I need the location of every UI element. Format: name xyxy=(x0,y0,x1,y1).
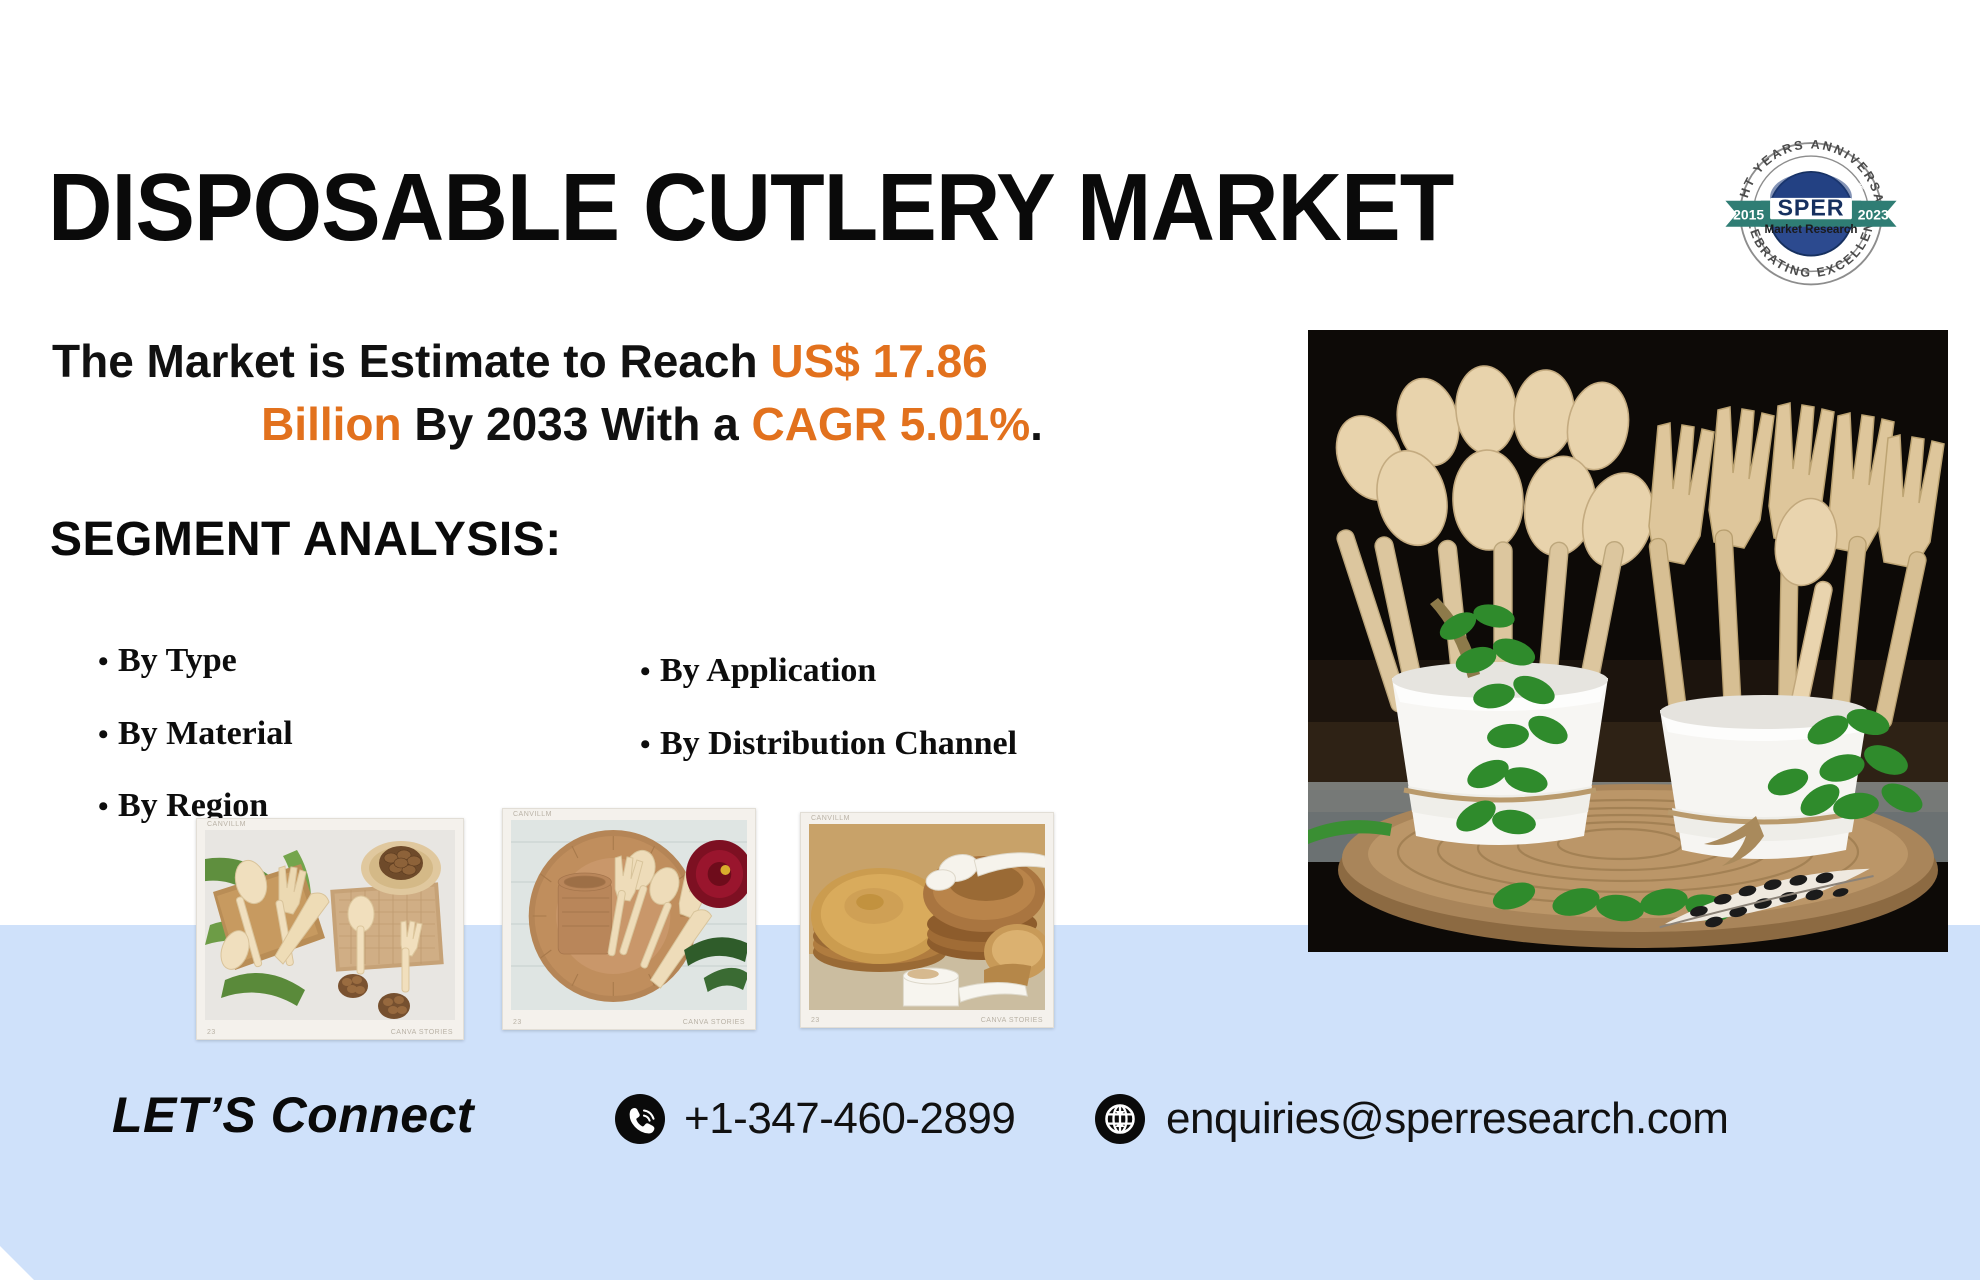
bullet-dot-icon: • xyxy=(98,647,118,677)
lets-connect-label: LET’S Connect xyxy=(112,1086,474,1144)
list-item-label: By Distribution Channel xyxy=(660,723,1017,766)
thumbnail-photo xyxy=(205,830,455,1020)
thumbnail-caption-bottom-right: CANVA STORIES xyxy=(683,1019,745,1026)
bullet-dot-icon: • xyxy=(640,730,660,760)
thumbnail-caption-top: CANVILLM xyxy=(513,811,552,818)
globe-icon[interactable] xyxy=(1094,1093,1146,1145)
sper-logo-badge: EIGHT YEARS ANNIVERSARY CELEBRATING EXCE… xyxy=(1718,128,1904,292)
thumbnail-caption-top: CANVILLM xyxy=(811,815,850,822)
hero-image xyxy=(1308,330,1948,952)
market-estimate-statement: The Market is Estimate to Reach US$ 17.8… xyxy=(52,330,1282,457)
poster-root: DISPOSABLE CUTLERY MARKET EIGHT YEARS AN… xyxy=(0,0,1980,1280)
subtitle-prefix: The Market is Estimate to Reach xyxy=(52,335,770,387)
sper-seal-icon: EIGHT YEARS ANNIVERSARY CELEBRATING EXCE… xyxy=(1718,128,1904,292)
thumbnail-caption-bottom-right: CANVA STORIES xyxy=(391,1029,453,1036)
svg-text:Market Research: Market Research xyxy=(1765,223,1858,236)
list-item-label: By Type xyxy=(118,640,237,683)
contact-email[interactable]: enquiries@sperresearch.com xyxy=(1094,1093,1728,1145)
thumbnail-caption-bottom-left: 23 xyxy=(513,1019,522,1026)
subtitle-value-cagr: CAGR 5.01% xyxy=(751,398,1030,450)
phone-number[interactable]: +1-347-460-2899 xyxy=(684,1094,1015,1144)
thumbnail-caption-top: CANVILLM xyxy=(207,821,246,828)
svg-text:2023: 2023 xyxy=(1858,206,1889,222)
subtitle-line-2: Billion By 2033 With a CAGR 5.01%. xyxy=(52,393,1282,456)
thumbnail-kraft-plate-cups: CANVILLM xyxy=(502,808,756,1030)
subtitle-value-billion: Billion xyxy=(261,398,402,450)
hero-photo xyxy=(1308,330,1948,952)
list-item: • By Material xyxy=(98,713,618,756)
thumbnail-wooden-cutlery-pinecones: CANVILLM xyxy=(196,818,464,1040)
list-item-label: By Material xyxy=(118,713,293,756)
page-title: DISPOSABLE CUTLERY MARKET xyxy=(48,160,1610,256)
subtitle-value-usd: US$ 17.86 xyxy=(770,335,987,387)
palm-leaf-bowls-illustration xyxy=(809,824,1045,1010)
list-item-label: By Application xyxy=(660,650,876,693)
thumbnail-photo xyxy=(511,820,747,1010)
thumbnail-caption-bottom-left: 23 xyxy=(207,1029,216,1036)
phone-icon[interactable] xyxy=(614,1093,666,1145)
thumbnail-caption-bottom-left: 23 xyxy=(811,1017,820,1024)
email-address[interactable]: enquiries@sperresearch.com xyxy=(1166,1094,1728,1144)
wooden-cutlery-pinecones-illustration xyxy=(205,830,455,1020)
svg-text:SPER: SPER xyxy=(1777,195,1844,221)
wooden-cutlery-cups-illustration xyxy=(1308,330,1948,952)
thumbnail-palm-leaf-bowls: CANVILLM xyxy=(800,812,1054,1028)
bullet-dot-icon: • xyxy=(640,657,660,687)
bullet-dot-icon: • xyxy=(98,720,118,750)
subtitle-suffix: . xyxy=(1030,398,1043,450)
list-item: • By Application xyxy=(640,650,1280,693)
list-item: • By Type xyxy=(98,640,618,683)
thumbnail-photo xyxy=(809,824,1045,1010)
svg-text:®: ® xyxy=(1858,182,1866,193)
thumbnail-caption-bottom-right: CANVA STORIES xyxy=(981,1017,1043,1024)
segment-list-right: • By Application • By Distribution Chann… xyxy=(640,650,1280,795)
svg-text:2015: 2015 xyxy=(1733,206,1764,222)
segment-analysis-heading: SEGMENT ANALYSIS: xyxy=(50,512,562,567)
subtitle-mid: By 2033 With a xyxy=(402,398,752,450)
bullet-dot-icon: • xyxy=(98,792,118,822)
kraft-plate-cups-illustration xyxy=(511,820,747,1010)
contact-phone[interactable]: +1-347-460-2899 xyxy=(614,1093,1015,1145)
list-item: • By Distribution Channel xyxy=(640,723,1280,766)
